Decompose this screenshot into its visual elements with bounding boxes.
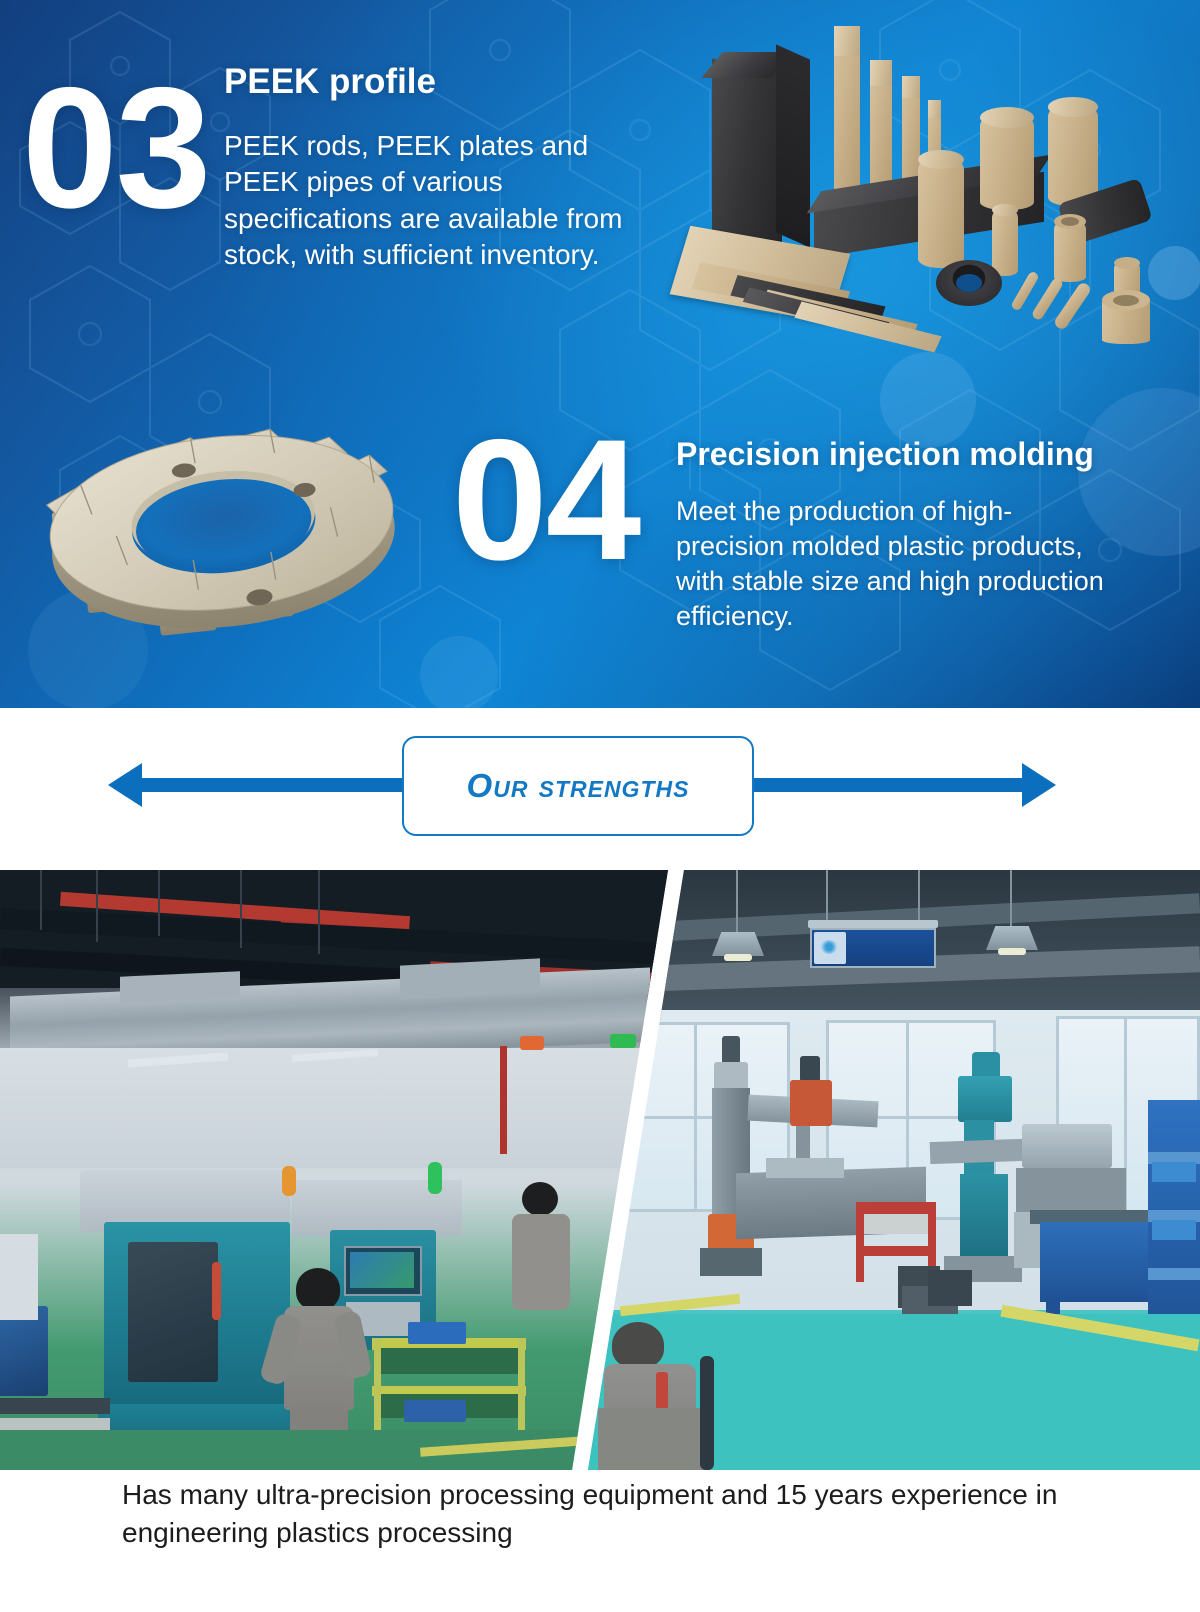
- block-body-04: Meet the production of high-precision mo…: [676, 494, 1106, 634]
- peek-profile-product-image: [690, 8, 1190, 348]
- bokeh-circle: [880, 352, 976, 448]
- hero-banner: 03 PEEK profile PEEK rods, PEEK plates a…: [0, 0, 1200, 708]
- our-strengths-label: Our strengths: [467, 767, 690, 805]
- peek-gear-ring-image: [26, 363, 434, 691]
- factory-photo-collage: [0, 870, 1200, 1470]
- block-title-03: PEEK profile: [224, 63, 436, 101]
- arrow-right-line: [752, 778, 1024, 792]
- arrow-left-icon: [108, 763, 142, 807]
- block-number-03: 03: [22, 62, 209, 234]
- arrow-right-icon: [1022, 763, 1056, 807]
- arrow-left-line: [140, 778, 410, 792]
- our-strengths-badge: Our strengths: [402, 736, 754, 836]
- block-number-04: 04: [452, 414, 639, 586]
- block-body-03: PEEK rods, PEEK plates and PEEK pipes of…: [224, 128, 644, 274]
- block-title-04: Precision injection molding: [676, 437, 1094, 472]
- bottom-caption: Has many ultra-precision processing equi…: [0, 1476, 1200, 1552]
